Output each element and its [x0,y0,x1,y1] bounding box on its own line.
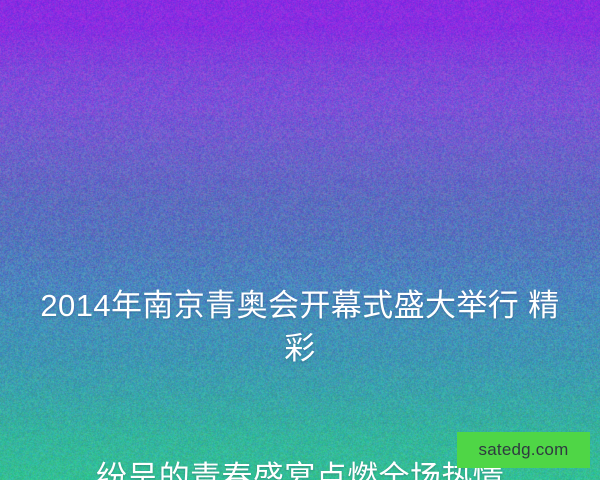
title-card-canvas: 2014年南京青奥会开幕式盛大举行 精彩 纷呈的青春盛宴点燃全场热情 sated… [0,0,600,480]
watermark-label: satedg.com [479,440,569,460]
watermark-badge: satedg.com [457,432,590,468]
headline-line-1: 2014年南京青奥会开幕式盛大举行 精彩 [30,284,570,370]
